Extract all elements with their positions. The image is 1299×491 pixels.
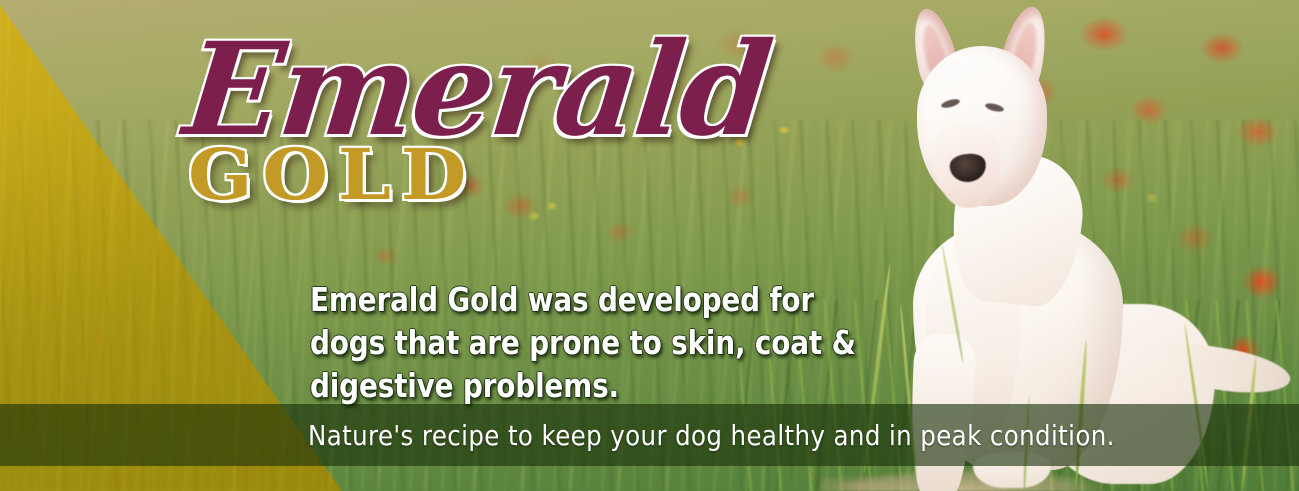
headline-line-2: dogs that are prone to skin, coat & <box>310 321 836 364</box>
brand-name-gold: GOLD <box>188 140 791 210</box>
tagline-text: Nature's recipe to keep your dog healthy… <box>308 419 1115 453</box>
emerald-gold-hero-banner: Emerald GOLD Emerald Gold was developed … <box>0 0 1299 491</box>
headline-copy: Emerald Gold was developed for dogs that… <box>310 278 870 407</box>
brand-logo[interactable]: Emerald GOLD <box>186 26 746 226</box>
headline-line-3: digestive problems. <box>310 364 836 407</box>
headline-line-1: Emerald Gold was developed for <box>310 278 836 321</box>
